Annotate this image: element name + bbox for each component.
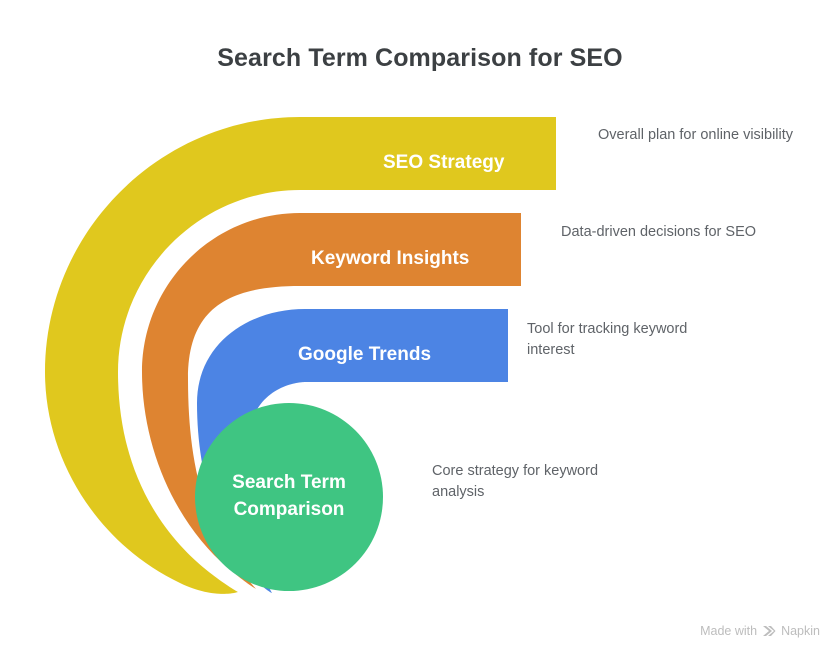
band-label-google-trends: Google Trends [298, 342, 431, 367]
core-label-line-1: Search Term [199, 470, 379, 497]
spiral-diagram: Search Term Comparison for SEO SEO Strat… [0, 0, 840, 654]
annotation-google-trends: Tool for tracking keyword interest [527, 319, 723, 361]
watermark-made-with-text: Made with [700, 624, 757, 638]
watermark-brand-text: Napkin [781, 624, 820, 638]
core-label-search-term-comparison: Search Term Comparison [199, 470, 379, 524]
napkin-chevron-icon [762, 625, 776, 637]
band-label-keyword-insights: Keyword Insights [311, 246, 469, 271]
band-label-seo-strategy: SEO Strategy [383, 150, 504, 175]
annotation-search-term-comparison: Core strategy for keyword analysis [432, 461, 628, 503]
annotation-seo-strategy: Overall plan for online visibility [598, 125, 794, 146]
watermark: Made with Napkin [700, 624, 820, 638]
core-label-line-2: Comparison [199, 497, 379, 524]
annotation-keyword-insights: Data-driven decisions for SEO [561, 222, 783, 243]
